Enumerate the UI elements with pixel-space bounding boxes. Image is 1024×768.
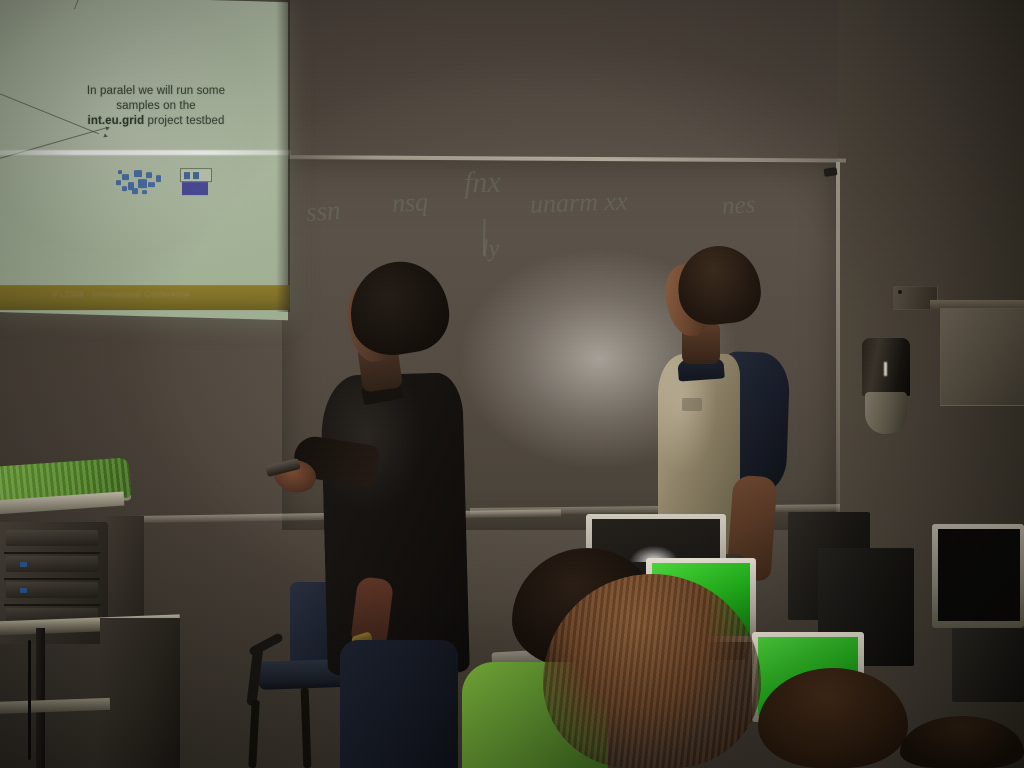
power-cable (28, 640, 31, 760)
whiteboard-frame-right (836, 162, 840, 530)
int-eu-grid-logo-box (180, 168, 212, 182)
presenter-left-torso (320, 372, 470, 676)
presenter-right-hair (674, 242, 764, 328)
slide-line-3: int.eu.grid project testbed (50, 114, 262, 129)
int-eu-grid-logo-bar (182, 182, 208, 195)
photo-scene: ssn nsq fnx unarm xx nes | ly In paralel… (0, 0, 1024, 768)
framed-board (940, 308, 1024, 406)
desk-side-panel (100, 618, 180, 768)
wall-speaker-glint (884, 362, 887, 376)
chair-leg (248, 700, 260, 768)
monitor-screen (938, 529, 1020, 621)
whiteboard-scribble-2: nsq (391, 187, 429, 219)
presenter-right-chest-logo (682, 398, 702, 411)
slide-line-2: samples on the (50, 99, 262, 114)
slide-line-1: In paralel we will run some (50, 84, 262, 99)
monitor-right-dark (932, 524, 1024, 628)
rack-led-indicator (20, 562, 27, 567)
rack-divider (4, 604, 100, 606)
rack-divider (4, 578, 100, 580)
whiteboard-scribble-6: | (478, 210, 490, 257)
wall-plate-screw-icon (898, 290, 902, 294)
presenter-left-legs (340, 640, 458, 768)
whiteboard-scribble-5: nes (721, 191, 756, 221)
slide-arrow-line-2 (0, 127, 109, 165)
slide-tick-mark (74, 0, 84, 10)
slide-project-name: int.eu.grid (88, 115, 145, 127)
projected-slide: In paralel we will run some samples on t… (0, 0, 288, 320)
slide-highlight-band (0, 150, 290, 155)
blue-node-cluster-icon (114, 166, 170, 196)
whiteboard-scribble-4: unarm xx (530, 186, 628, 219)
presenter-left (288, 262, 488, 768)
whiteboard-scribble-1: ssn (305, 195, 342, 228)
slide-line-3-rest: project testbed (144, 115, 224, 127)
wall-speaker (862, 338, 910, 432)
whiteboard-scribble-7: ly (481, 236, 500, 264)
slide-body-text: In paralel we will run some samples on t… (50, 84, 262, 129)
projector-glow (0, 0, 288, 316)
tower-3 (952, 628, 1024, 702)
slide-footer-text: IFL2008 - International Conference (52, 290, 190, 299)
slide-arrow-head-1 (103, 134, 108, 139)
rack-led-indicator (20, 588, 27, 593)
rack-slot (6, 530, 98, 546)
slide-footer-bar: IFL2008 - International Conference (0, 285, 290, 310)
rack-divider (4, 552, 100, 554)
whiteboard-scribble-3: fnx (463, 165, 501, 200)
wall-speaker-base (865, 392, 907, 434)
desk-leg (36, 628, 45, 768)
